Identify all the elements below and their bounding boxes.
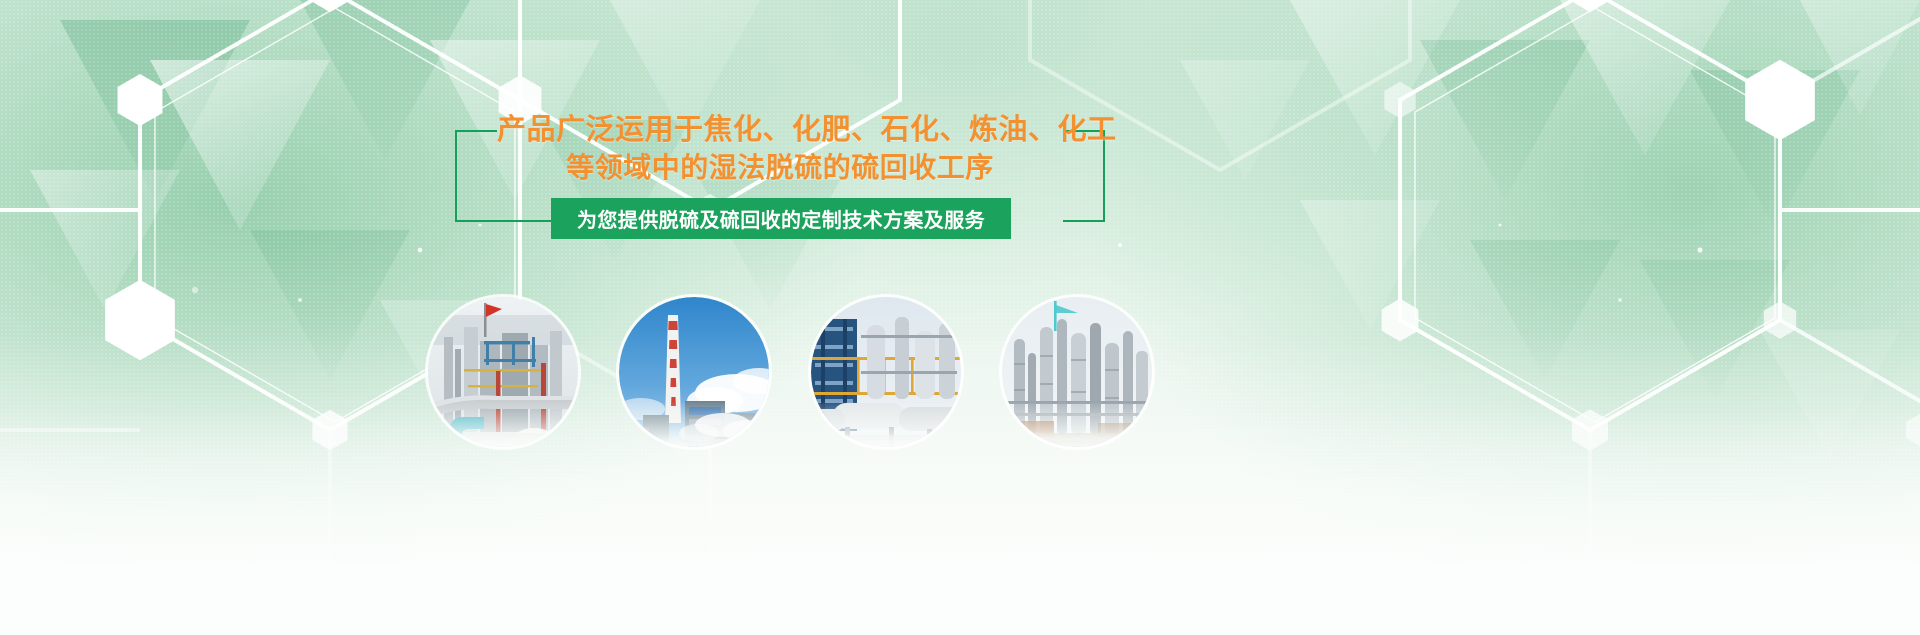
subtitle-bar: 为您提供脱硫及硫回收的定制技术方案及服务 xyxy=(551,198,1011,239)
photo-sulfur-recovery-plant-piping xyxy=(428,297,578,447)
headline-line-1: 产品广泛运用于焦化、化肥、石化、炼油、化工 xyxy=(497,112,1063,149)
photo-chimney-stack-blue-sky xyxy=(619,297,769,447)
headline-line-2: 等领域中的湿法脱硫的硫回收工序 xyxy=(497,149,1063,186)
hero-banner: 产品广泛运用于焦化、化肥、石化、炼油、化工 等领域中的湿法脱硫的硫回收工序 为您… xyxy=(0,0,1920,635)
frame-line-top-left xyxy=(455,130,497,132)
photo-circle-row xyxy=(428,297,1152,447)
frame-line-bottom-right xyxy=(1063,220,1105,222)
photo-petrochemical-vessels-walkway xyxy=(811,297,961,447)
subtitle-text: 为您提供脱硫及硫回收的定制技术方案及服务 xyxy=(577,204,985,233)
photo-refinery-distillation-towers xyxy=(1002,297,1152,447)
headline-text: 产品广泛运用于焦化、化肥、石化、炼油、化工 等领域中的湿法脱硫的硫回收工序 xyxy=(497,112,1063,186)
frame-line-left xyxy=(455,130,457,222)
